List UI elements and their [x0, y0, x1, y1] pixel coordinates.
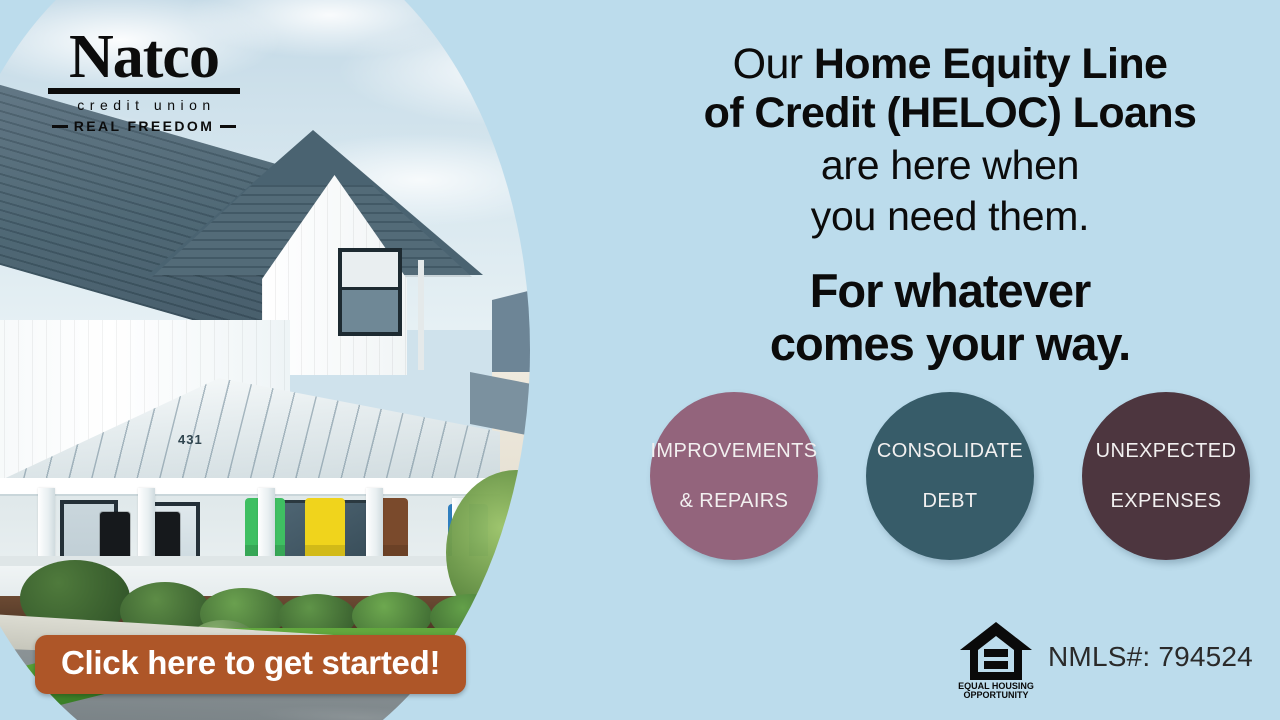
logo-wordmark: Natco: [48, 28, 240, 86]
headline-bold-1: Home Equity Line: [814, 40, 1168, 88]
dash-left-icon: [52, 125, 68, 128]
eho-label-line-2: OPPORTUNITY: [963, 690, 1028, 700]
headline-line-3: are here when: [640, 142, 1260, 189]
logo-tagline-row: REAL FREEDOM: [48, 118, 240, 134]
house-number: 431: [178, 434, 192, 446]
circle-unexpected-expenses[interactable]: UNEXPECTED EXPENSES: [1082, 392, 1250, 560]
circle-3-label-line-2: EXPENSES: [1076, 489, 1256, 514]
emphasis-line-2: comes your way.: [640, 317, 1260, 370]
natco-logo[interactable]: Natco credit union REAL FREEDOM: [48, 28, 240, 134]
logo-tagline: REAL FREEDOM: [74, 118, 215, 134]
headline-line-2: of Credit (HELOC) Loans: [640, 89, 1260, 138]
headline-light-lead: Our: [733, 40, 814, 88]
circle-3-label-line-1: UNEXPECTED: [1076, 439, 1256, 464]
equal-housing-opportunity-icon: EQUAL HOUSING OPPORTUNITY: [958, 618, 1034, 700]
headline-block: Our Home Equity Line of Credit (HELOC) L…: [640, 40, 1260, 370]
dash-right-icon: [220, 125, 236, 128]
emphasis-line-1: For whatever: [640, 264, 1260, 317]
circle-2-label-line-1: CONSOLIDATE: [860, 439, 1040, 464]
logo-subtitle: credit union: [48, 97, 240, 113]
metal-chair: [100, 512, 130, 556]
headline-line-4: you need them.: [640, 193, 1260, 240]
circle-1-label-line-1: IMPROVEMENTS: [644, 439, 824, 464]
porch-fascia: [0, 478, 500, 496]
circle-1-label-line-2: & REPAIRS: [644, 489, 824, 514]
circle-2-label-line-2: DEBT: [860, 489, 1040, 514]
headline-line-1: Our Home Equity Line: [640, 40, 1260, 89]
heloc-promo-banner: 431 Natco credit union REAL FREEDOM: [0, 0, 1280, 720]
circle-improvements-repairs[interactable]: IMPROVEMENTS & REPAIRS: [650, 392, 818, 560]
circle-consolidate-debt[interactable]: CONSOLIDATE DEBT: [866, 392, 1034, 560]
nmls-number: NMLS#: 794524: [1048, 641, 1253, 677]
use-case-circles: IMPROVEMENTS & REPAIRS CONSOLIDATE DEBT …: [650, 392, 1250, 560]
adirondack-chair-yellow: [305, 498, 345, 558]
get-started-button[interactable]: Click here to get started!: [35, 635, 466, 694]
footer-block: EQUAL HOUSING OPPORTUNITY NMLS#: 794524: [958, 618, 1253, 700]
downspout: [418, 260, 424, 370]
gable-window: [338, 248, 402, 336]
